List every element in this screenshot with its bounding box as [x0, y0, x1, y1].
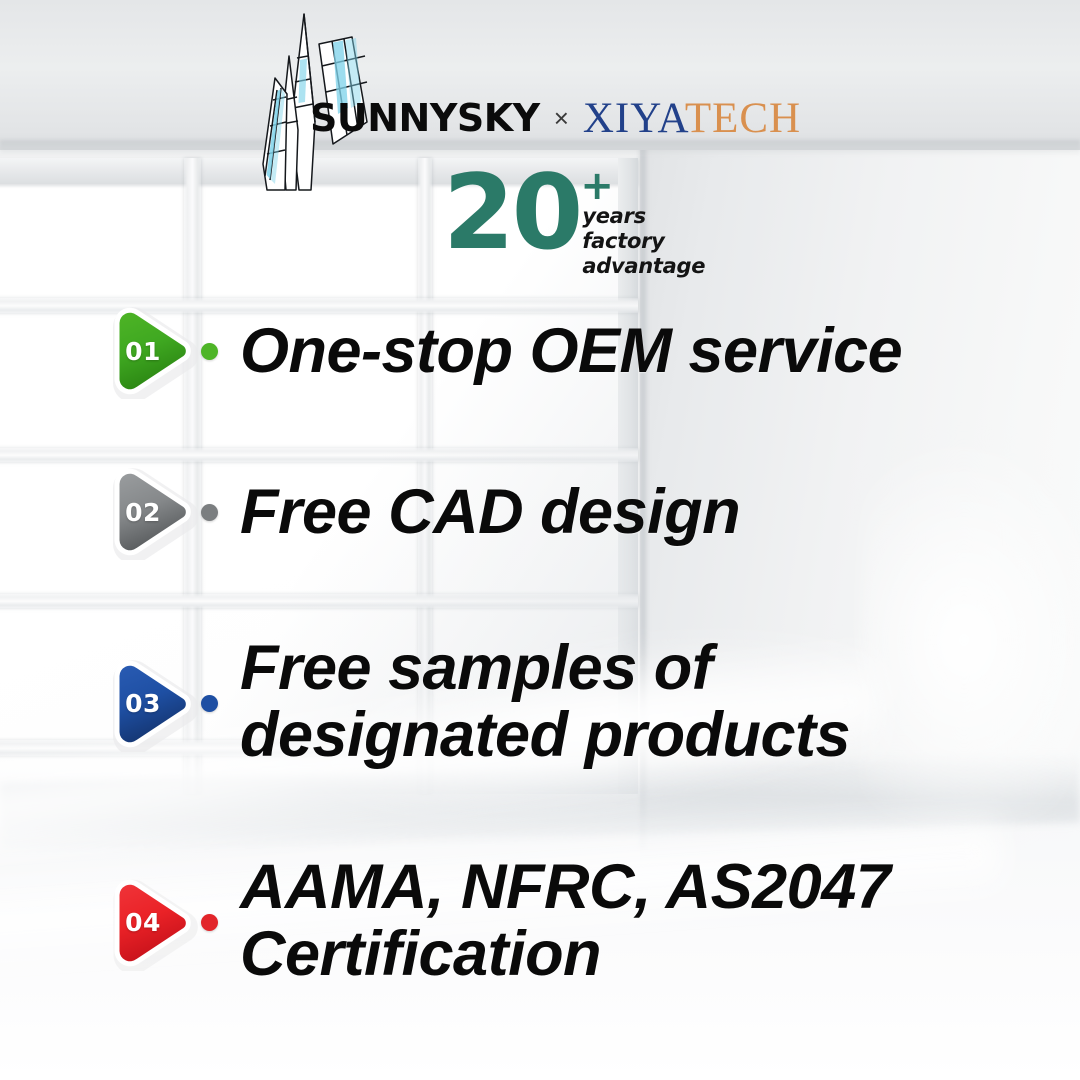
feature-badge-number: 04 — [103, 875, 199, 971]
promo-poster: SUNNYSKY × XIYATECH 20 + years factory a… — [0, 0, 1080, 1080]
brand-text-lockup: SUNNYSKY × XIYATECH — [310, 93, 840, 143]
experience-plus-sign: + — [580, 172, 705, 200]
brand-name-sunnysky: SUNNYSKY — [310, 99, 540, 137]
feature-badge-04: 04 — [103, 875, 199, 971]
feature-connector-dot — [201, 914, 218, 931]
window-mullion-horizontal — [0, 594, 638, 608]
brand-tech-part: TECH — [685, 95, 801, 142]
feature-connector-dot — [201, 504, 218, 521]
brand-xiya-part: XIYA — [583, 95, 685, 142]
brand-separator-icon: × — [554, 105, 569, 131]
experience-caption-lines: years factory advantage — [582, 204, 705, 278]
feature-item-03: 03 Free samples of designated products — [103, 639, 850, 769]
brand-name-xiyatech: XIYATECH — [583, 97, 801, 140]
feature-label: One-stop OEM service — [240, 318, 902, 385]
feature-connector-dot — [201, 343, 218, 360]
feature-badge-02: 02 — [103, 464, 199, 560]
feature-badge-number: 02 — [103, 464, 199, 560]
experience-caption: + years factory advantage — [582, 172, 705, 278]
experience-line-2: factory — [582, 229, 705, 254]
background-light-glow — [860, 430, 1080, 850]
window-mullion-horizontal — [0, 448, 638, 462]
experience-line-3: advantage — [582, 254, 705, 279]
experience-line-1: years — [582, 204, 705, 229]
feature-label: AAMA, NFRC, AS2047 Certification — [240, 854, 890, 988]
feature-badge-number: 03 — [103, 656, 199, 752]
feature-item-04: 04 AAMA, NFRC, AS2047 Certification — [103, 858, 890, 988]
feature-badge-number: 01 — [103, 303, 199, 399]
feature-item-02: 02 Free CAD design — [103, 464, 740, 560]
feature-badge-01: 01 — [103, 303, 199, 399]
experience-number: 20 — [443, 166, 580, 261]
feature-connector-dot — [201, 695, 218, 712]
feature-label: Free CAD design — [240, 479, 740, 546]
feature-label: Free samples of designated products — [240, 635, 850, 769]
experience-badge: 20 + years factory advantage — [443, 166, 693, 286]
feature-item-01: 01 One-stop OEM service — [103, 303, 902, 399]
feature-badge-03: 03 — [103, 656, 199, 752]
